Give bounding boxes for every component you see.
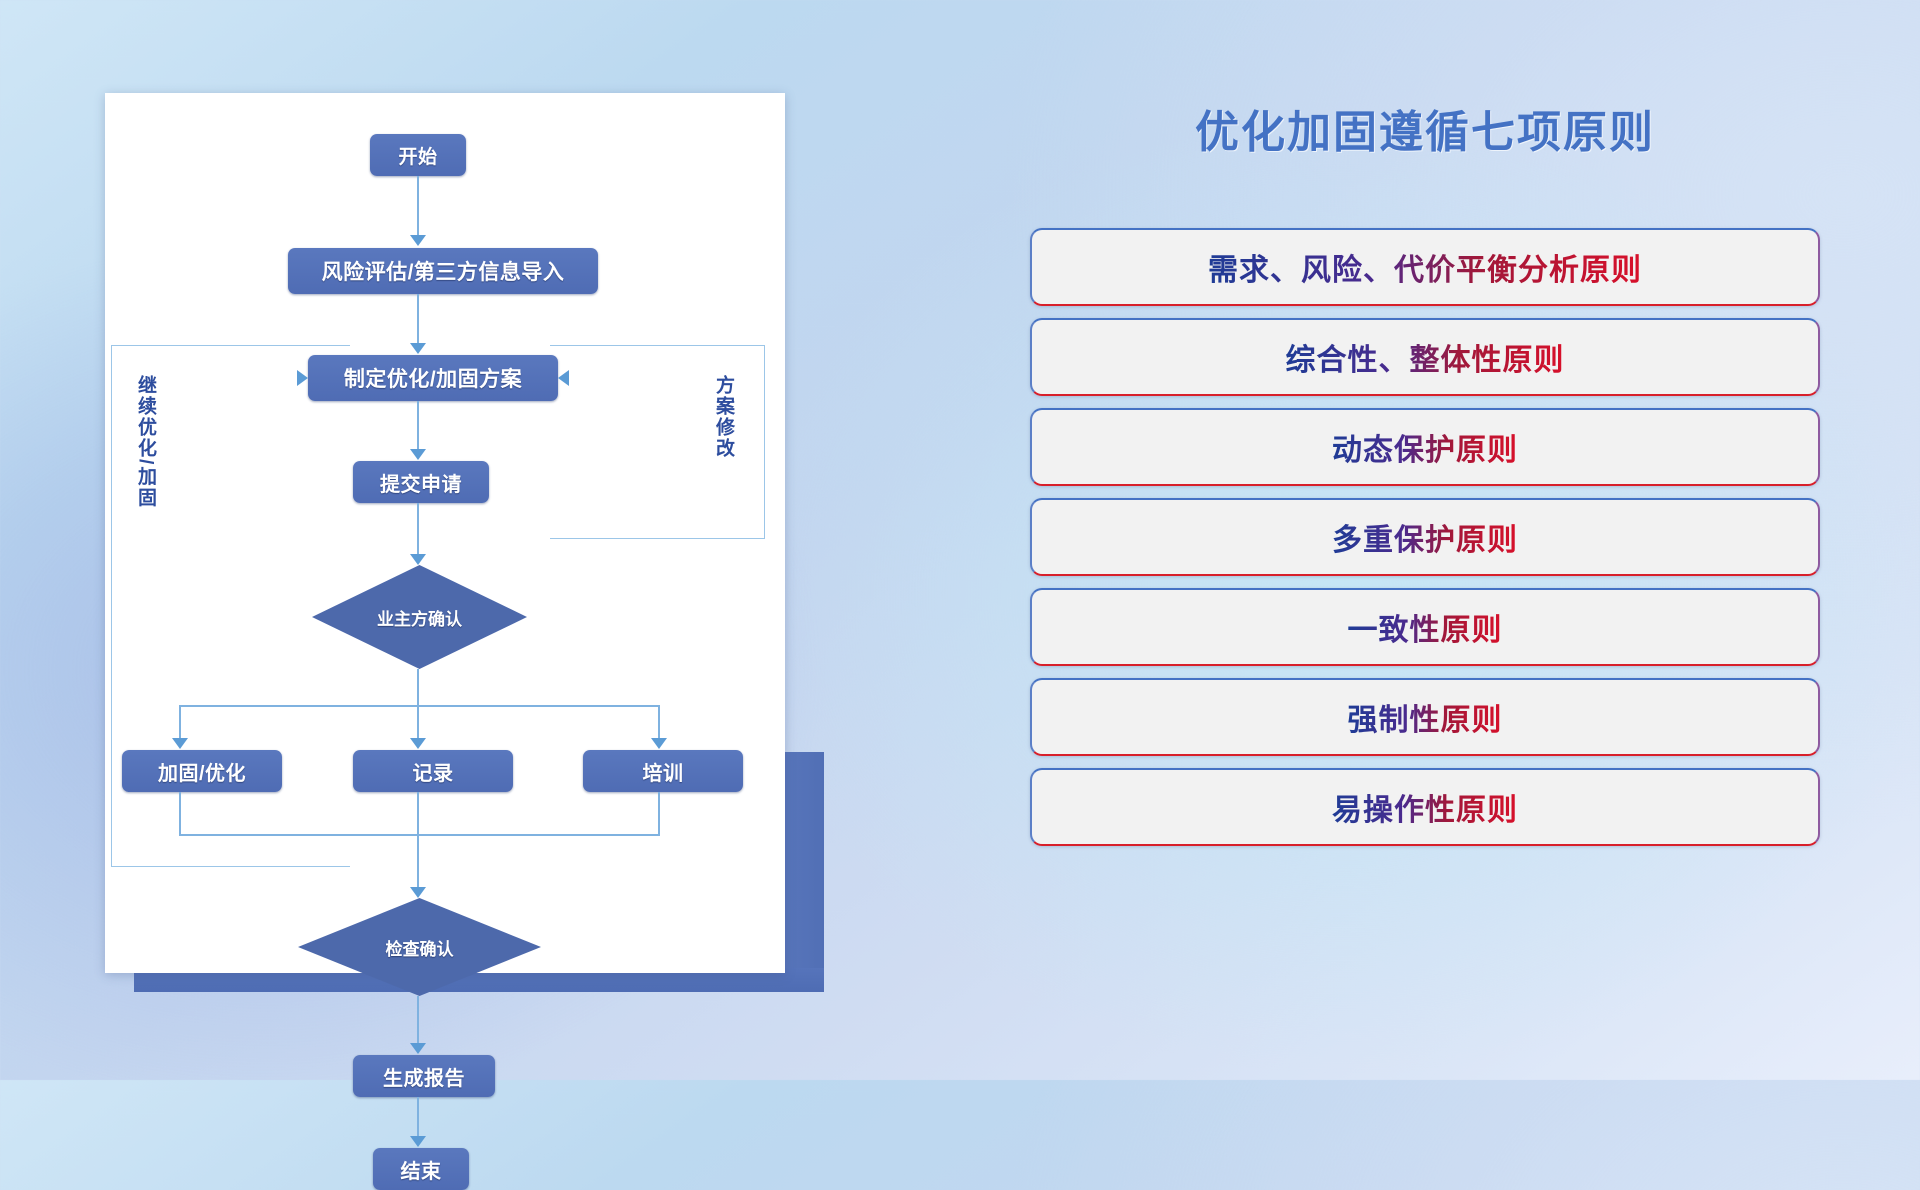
principle-card-1-label: 需求、风险、代价平衡分析原则 xyxy=(1208,245,1642,289)
edge-bus-to-record xyxy=(417,705,419,741)
node-plan[interactable]: 制定优化/加固方案 xyxy=(308,355,558,401)
edge-owner-down xyxy=(417,669,419,707)
node-report-label: 生成报告 xyxy=(383,1062,465,1091)
principles-panel: 优化加固遵循七项原则 需求、风险、代价平衡分析原则 综合性、整体性原则 动态保护… xyxy=(1010,96,1840,996)
node-training[interactable]: 培训 xyxy=(583,750,743,792)
arrowhead-right-into-plan xyxy=(297,370,308,386)
node-reinforce-label: 加固/优化 xyxy=(158,757,246,786)
principle-card-7[interactable]: 易操作性原则 xyxy=(1030,768,1820,846)
principle-card-5[interactable]: 一致性原则 xyxy=(1030,588,1820,666)
principle-card-2[interactable]: 综合性、整体性原则 xyxy=(1030,318,1820,396)
flowchart-diagram: 开始 风险评估/第三方信息导入 制定优化/加固方案 提交申请 xyxy=(105,93,785,973)
bus-merge xyxy=(179,834,660,836)
principle-card-7-label: 易操作性原则 xyxy=(1332,785,1518,829)
arrowhead-down-report xyxy=(410,1043,426,1054)
arrowhead-left-into-plan xyxy=(558,370,569,386)
principle-card-4[interactable]: 多重保护原则 xyxy=(1030,498,1820,576)
node-check-confirm-label: 检查确认 xyxy=(386,935,454,960)
bus-fanout xyxy=(179,705,659,707)
node-end-label: 结束 xyxy=(401,1155,442,1184)
principle-card-3[interactable]: 动态保护原则 xyxy=(1030,408,1820,486)
node-record[interactable]: 记录 xyxy=(353,750,513,792)
principle-card-5-label: 一致性原则 xyxy=(1348,605,1503,649)
arrowhead-down-reinforce xyxy=(172,738,188,749)
principle-card-3-label: 动态保护原则 xyxy=(1332,425,1518,469)
principle-card-4-label: 多重保护原则 xyxy=(1332,515,1518,559)
principle-card-6-label: 强制性原则 xyxy=(1348,695,1503,739)
edge-label-left-loop-text: 继续优化/加固 xyxy=(135,375,156,508)
edge-submit-to-owner xyxy=(417,503,419,557)
arrowhead-down-check xyxy=(410,887,426,898)
principle-card-6[interactable]: 强制性原则 xyxy=(1030,678,1820,756)
node-report[interactable]: 生成报告 xyxy=(353,1055,495,1097)
node-owner-confirm-label: 业主方确认 xyxy=(377,605,462,630)
node-training-label: 培训 xyxy=(643,757,684,786)
edge-report-to-end xyxy=(417,1097,419,1139)
edge-start-to-risk xyxy=(417,176,419,238)
edge-label-left-loop: 继续优化/加固 xyxy=(135,375,155,508)
arrowhead-down-4 xyxy=(410,554,426,565)
node-submit[interactable]: 提交申请 xyxy=(353,461,489,503)
flowchart-card: 开始 风险评估/第三方信息导入 制定优化/加固方案 提交申请 xyxy=(105,93,785,973)
edge-label-right-loop-text: 方案修改 xyxy=(713,375,734,459)
edge-record-down xyxy=(417,792,419,890)
node-submit-label: 提交申请 xyxy=(380,468,462,497)
node-plan-label: 制定优化/加固方案 xyxy=(344,363,522,393)
node-risk-assessment[interactable]: 风险评估/第三方信息导入 xyxy=(288,248,598,294)
edge-bus-to-training xyxy=(658,705,660,741)
principle-card-1[interactable]: 需求、风险、代价平衡分析原则 xyxy=(1030,228,1820,306)
arrowhead-down-training xyxy=(651,738,667,749)
arrowhead-down-2 xyxy=(410,343,426,354)
arrowhead-down-3 xyxy=(410,449,426,460)
edge-check-to-report xyxy=(417,996,419,1046)
node-end[interactable]: 结束 xyxy=(373,1148,469,1190)
node-record-label: 记录 xyxy=(413,757,454,786)
node-start[interactable]: 开始 xyxy=(370,134,466,176)
principle-card-2-label: 综合性、整体性原则 xyxy=(1286,335,1565,379)
slide-canvas: 开始 风险评估/第三方信息导入 制定优化/加固方案 提交申请 xyxy=(0,0,1920,1080)
edge-reinforce-down xyxy=(179,792,181,836)
edge-label-right-loop: 方案修改 xyxy=(713,375,733,459)
node-reinforce[interactable]: 加固/优化 xyxy=(122,750,282,792)
node-risk-assessment-label: 风险评估/第三方信息导入 xyxy=(322,256,565,286)
node-check-confirm[interactable]: 检查确认 xyxy=(298,898,541,996)
edge-bus-to-reinforce xyxy=(179,705,181,741)
edge-plan-to-submit xyxy=(417,401,419,453)
edge-training-down xyxy=(658,792,660,836)
node-owner-confirm[interactable]: 业主方确认 xyxy=(312,565,527,669)
node-start-label: 开始 xyxy=(398,142,437,169)
principles-title: 优化加固遵循七项原则 xyxy=(1010,96,1840,160)
arrowhead-down-record xyxy=(410,738,426,749)
edge-risk-to-plan xyxy=(417,294,419,346)
arrowhead-down-end xyxy=(410,1136,426,1147)
arrowhead-down-1 xyxy=(410,235,426,246)
